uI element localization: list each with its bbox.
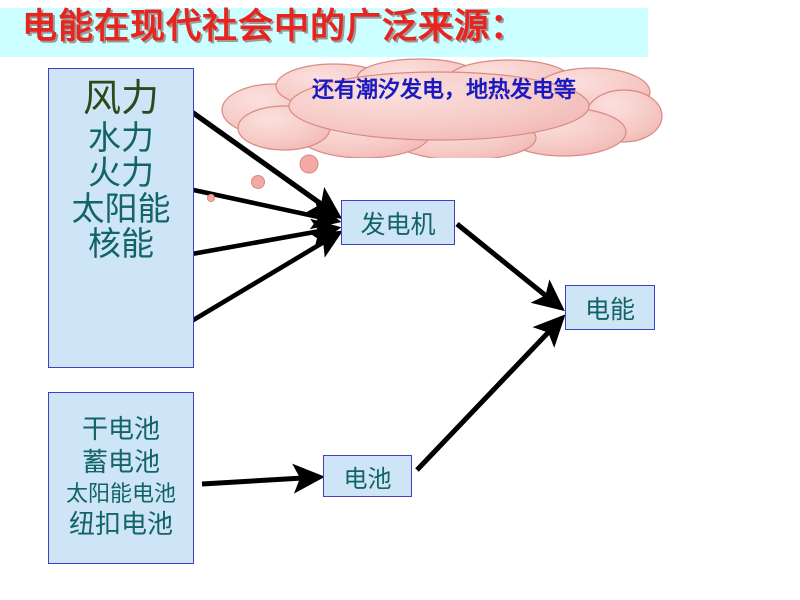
source-item-wind: 风力: [83, 77, 159, 120]
battery-box[interactable]: 电池: [323, 455, 412, 497]
energy-sources-box[interactable]: 风力 水力 火力 太阳能 核能: [48, 68, 194, 368]
battery-item-storage: 蓄电池: [82, 447, 160, 480]
battery-item-solar: 太阳能电池: [66, 481, 176, 509]
cloud-callout: 还有潮汐发电，地热发电等: [214, 58, 664, 158]
callout-tail-bubbles: [195, 150, 325, 210]
arrow-battery-to-energy: [417, 318, 562, 470]
battery-types-box[interactable]: 干电池 蓄电池 太阳能电池 纽扣电池: [48, 392, 194, 564]
source-item-solar: 太阳能: [72, 191, 171, 227]
source-item-nuclear: 核能: [88, 226, 154, 262]
source-item-hydro: 水力: [88, 120, 154, 156]
source-item-thermal: 火力: [88, 155, 154, 191]
battery-item-button: 纽扣电池: [69, 509, 173, 542]
arrow-batteries-to-battery: [202, 477, 320, 484]
generator-label: 发电机: [360, 205, 435, 241]
electric-energy-box[interactable]: 电能: [565, 285, 655, 330]
battery-label: 电池: [344, 459, 392, 494]
cloud-callout-text: 还有潮汐发电，地热发电等: [274, 76, 614, 106]
slide-canvas: 电能在现代社会中的广泛来源：: [0, 0, 800, 600]
generator-box[interactable]: 发电机: [341, 200, 455, 245]
cloud-shape-icon: [214, 58, 664, 158]
battery-item-dry: 干电池: [82, 414, 160, 447]
arrow-generator-to-energy: [457, 224, 561, 308]
electric-energy-label: 电能: [585, 290, 635, 326]
